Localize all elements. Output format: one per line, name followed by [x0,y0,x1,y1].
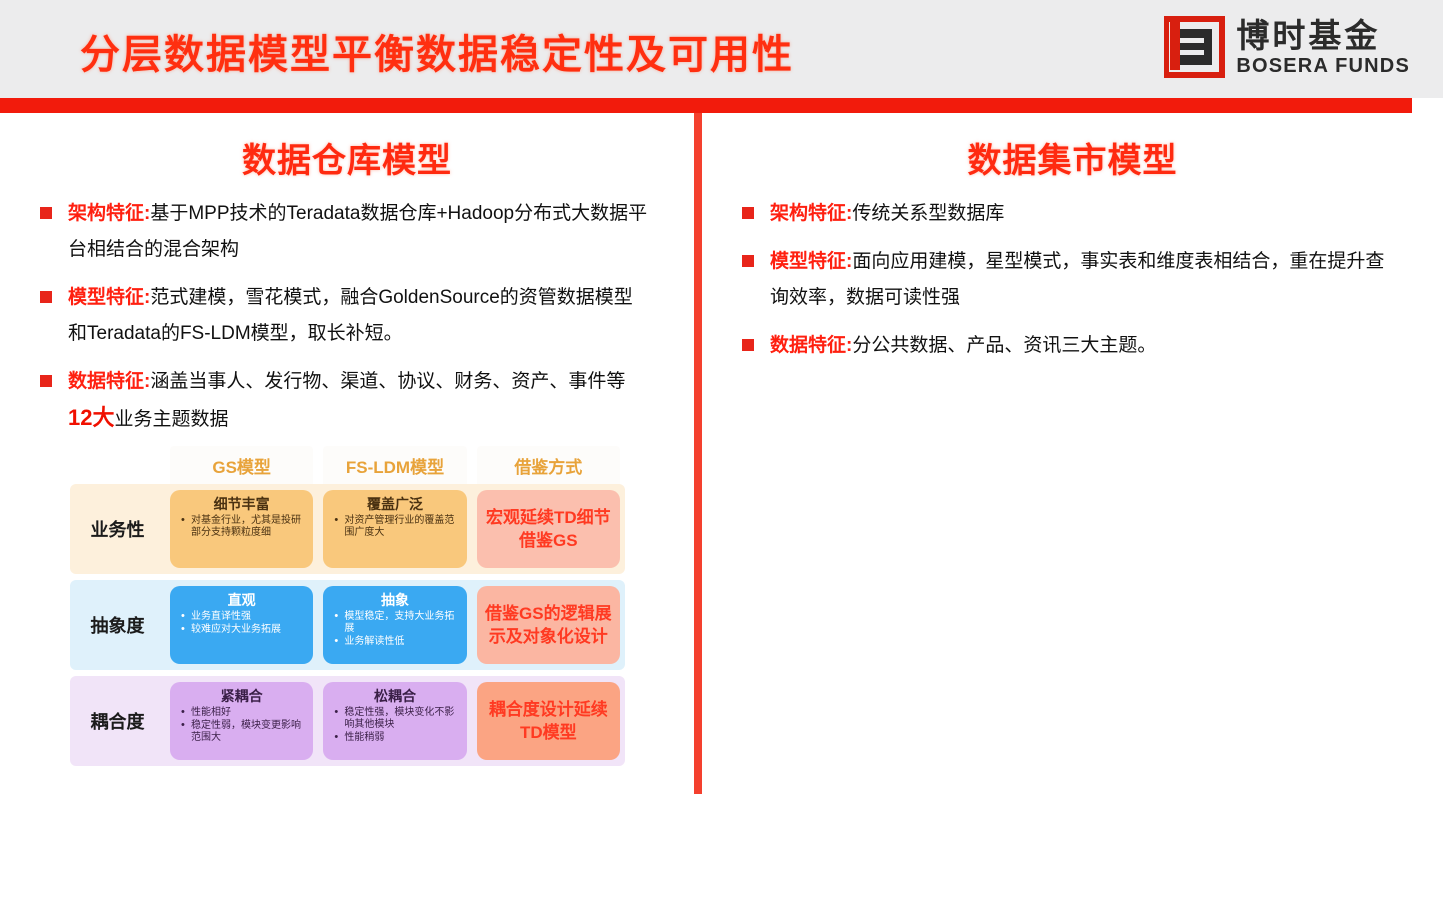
bullet-square-icon [40,207,52,219]
cell-gs: 紧耦合 性能相好 稳定性弱，模块变更影响范围大 [170,682,313,760]
bullet-square-icon [40,375,52,387]
diagram-connectors [1404,476,1443,907]
table-row: 业务性 细节丰富 对基金行业，尤其是投研部分支持颗粒度细 覆盖广泛 对资产管理行… [70,484,625,574]
cell-item: 对基金行业，尤其是投研部分支持颗粒度细 [178,515,305,539]
cell-item: 性能相好 [178,707,305,719]
row-label: 耦合度 [70,676,165,766]
cell-fsldm: 松耦合 稳定性强，模块变化不影响其他模块 性能稍弱 [323,682,466,760]
cell-title: 细节丰富 [178,496,305,513]
cell-item: 较难应对大业务拓展 [178,624,305,636]
cell-title: 紧耦合 [178,688,305,705]
slide-header: 分层数据模型平衡数据稳定性及可用性 博时基金 BOSERA FUNDS [0,0,1443,98]
cell-fsldm: 覆盖广泛 对资产管理行业的覆盖范围广度大 [323,490,466,568]
cell-title: 覆盖广泛 [331,496,458,513]
cell-item: 对资产管理行业的覆盖范围广度大 [331,515,458,539]
header-rule-gap [1412,98,1443,113]
cell-gs: 直观 业务直译性强 较难应对大业务拓展 [170,586,313,664]
left-bullet-list: 架构特征:基于MPP技术的Teradata数据仓库+Hadoop分布式大数据平台… [0,196,694,438]
bullet-label: 模型特征: [770,251,852,272]
cell-items: 模型稳定，支持大业务拓展 业务解读性低 [331,611,458,648]
bullet-text: 传统关系型数据库 [852,203,1004,224]
cell-title: 直观 [178,592,305,609]
cell-items: 业务直译性强 较难应对大业务拓展 [178,611,305,636]
logo-text-en: BOSERA FUNDS [1236,56,1410,76]
list-item: 数据特征:分公共数据、产品、资讯三大主题。 [742,328,1403,364]
bullet-label: 架构特征: [770,203,852,224]
cell-item: 稳定性强，模块变化不影响其他模块 [331,707,458,731]
slide: 分层数据模型平衡数据稳定性及可用性 博时基金 BOSERA FUNDS 数 [0,0,1443,794]
right-column: 数据集市模型 架构特征:传统关系型数据库 模型特征:面向应用建模，星型模式，事实… [702,113,1443,794]
bullet-highlight: 12大 [68,405,114,430]
cell-items: 对基金行业，尤其是投研部分支持颗粒度细 [178,515,305,539]
cell-approach: 借鉴GS的逻辑展示及对象化设计 [477,586,620,664]
bullet-text-a: 涵盖当事人、发行物、渠道、协议、财务、资产、事件等 [150,371,625,392]
bullet-square-icon [742,207,754,219]
bullet-text-b: 业务主题数据 [114,409,228,430]
bosera-logo: 博时基金 BOSERA FUNDS [1164,16,1410,78]
table-row: 耦合度 紧耦合 性能相好 稳定性弱，模块变更影响范围大 松耦合 稳定性强，模块变… [70,676,625,766]
column-header-approach: 借鉴方式 [477,446,620,484]
header-spacer [70,446,165,484]
bullet-label: 数据特征: [68,371,150,392]
cell-approach: 宏观延续TD细节借鉴GS [477,490,620,568]
left-column: 数据仓库模型 架构特征:基于MPP技术的Teradata数据仓库+Hadoop分… [0,113,694,794]
cell-item: 模型稳定，支持大业务拓展 [331,611,458,635]
cell-items: 对资产管理行业的覆盖范围广度大 [331,515,458,539]
cell-item: 性能稍弱 [331,732,458,744]
bullet-text: 分公共数据、产品、资讯三大主题。 [852,335,1156,356]
column-header-gs: GS模型 [170,446,313,484]
bullet-square-icon [742,255,754,267]
cell-item: 业务直译性强 [178,611,305,623]
list-item: 模型特征:范式建模，雪花模式，融合GoldenSource的资管数据模型和Ter… [40,280,648,352]
row-label: 抽象度 [70,580,165,670]
cell-gs: 细节丰富 对基金行业，尤其是投研部分支持颗粒度细 [170,490,313,568]
logo-text-cn: 博时基金 [1236,19,1410,52]
subject-hexagon-diagram: 资讯 产品 公共 产品要素 产品业绩 产品估值 产品持仓 产品交易 产品TA 产… [1404,476,1443,907]
cell-item: 业务解读性低 [331,636,458,648]
logo-seal-icon [1164,16,1226,78]
bullet-square-icon [742,339,754,351]
right-column-title: 数据集市模型 [702,133,1443,182]
cell-title: 抽象 [331,592,458,609]
bullet-square-icon [40,291,52,303]
table-row: 抽象度 直观 业务直译性强 较难应对大业务拓展 抽象 模型稳定，支持大业务拓展 … [70,580,625,670]
cell-items: 稳定性强，模块变化不影响其他模块 性能稍弱 [331,707,458,744]
cell-item: 稳定性弱，模块变更影响范围大 [178,720,305,744]
right-bullet-list: 架构特征:传统关系型数据库 模型特征:面向应用建模，星型模式，事实表和维度表相结… [702,196,1443,364]
bullet-text: 面向应用建模，星型模式，事实表和维度表相结合，重在提升查询效率，数据可读性强 [770,251,1384,308]
bullet-label: 架构特征: [68,203,150,224]
list-item: 模型特征:面向应用建模，星型模式，事实表和维度表相结合，重在提升查询效率，数据可… [742,244,1403,316]
header-red-rule [0,98,1412,113]
bosera-logo-mark [1164,16,1226,78]
page-title: 分层数据模型平衡数据稳定性及可用性 [80,22,794,80]
bullet-label: 数据特征: [770,335,852,356]
cell-items: 性能相好 稳定性弱，模块变更影响范围大 [178,707,305,744]
cell-fsldm: 抽象 模型稳定，支持大业务拓展 业务解读性低 [323,586,466,664]
list-item: 架构特征:基于MPP技术的Teradata数据仓库+Hadoop分布式大数据平台… [40,196,648,268]
row-label: 业务性 [70,484,165,574]
bullet-text: 范式建模，雪花模式，融合GoldenSource的资管数据模型和Teradata… [68,287,633,344]
column-divider [694,113,702,794]
comparison-table: GS模型 FS-LDM模型 借鉴方式 业务性 细节丰富 对基金行业，尤其是投研部… [70,446,625,776]
bullet-label: 模型特征: [68,287,150,308]
logo-text: 博时基金 BOSERA FUNDS [1236,19,1410,76]
table-header-row: GS模型 FS-LDM模型 借鉴方式 [70,446,625,484]
left-column-title: 数据仓库模型 [0,133,694,182]
cell-title: 松耦合 [331,688,458,705]
cell-approach: 耦合度设计延续TD模型 [477,682,620,760]
bullet-text: 基于MPP技术的Teradata数据仓库+Hadoop分布式大数据平台相结合的混… [68,203,647,260]
list-item: 架构特征:传统关系型数据库 [742,196,1403,232]
column-header-fsldm: FS-LDM模型 [323,446,466,484]
list-item: 数据特征:涵盖当事人、发行物、渠道、协议、财务、资产、事件等 12大业务主题数据 [40,364,648,438]
